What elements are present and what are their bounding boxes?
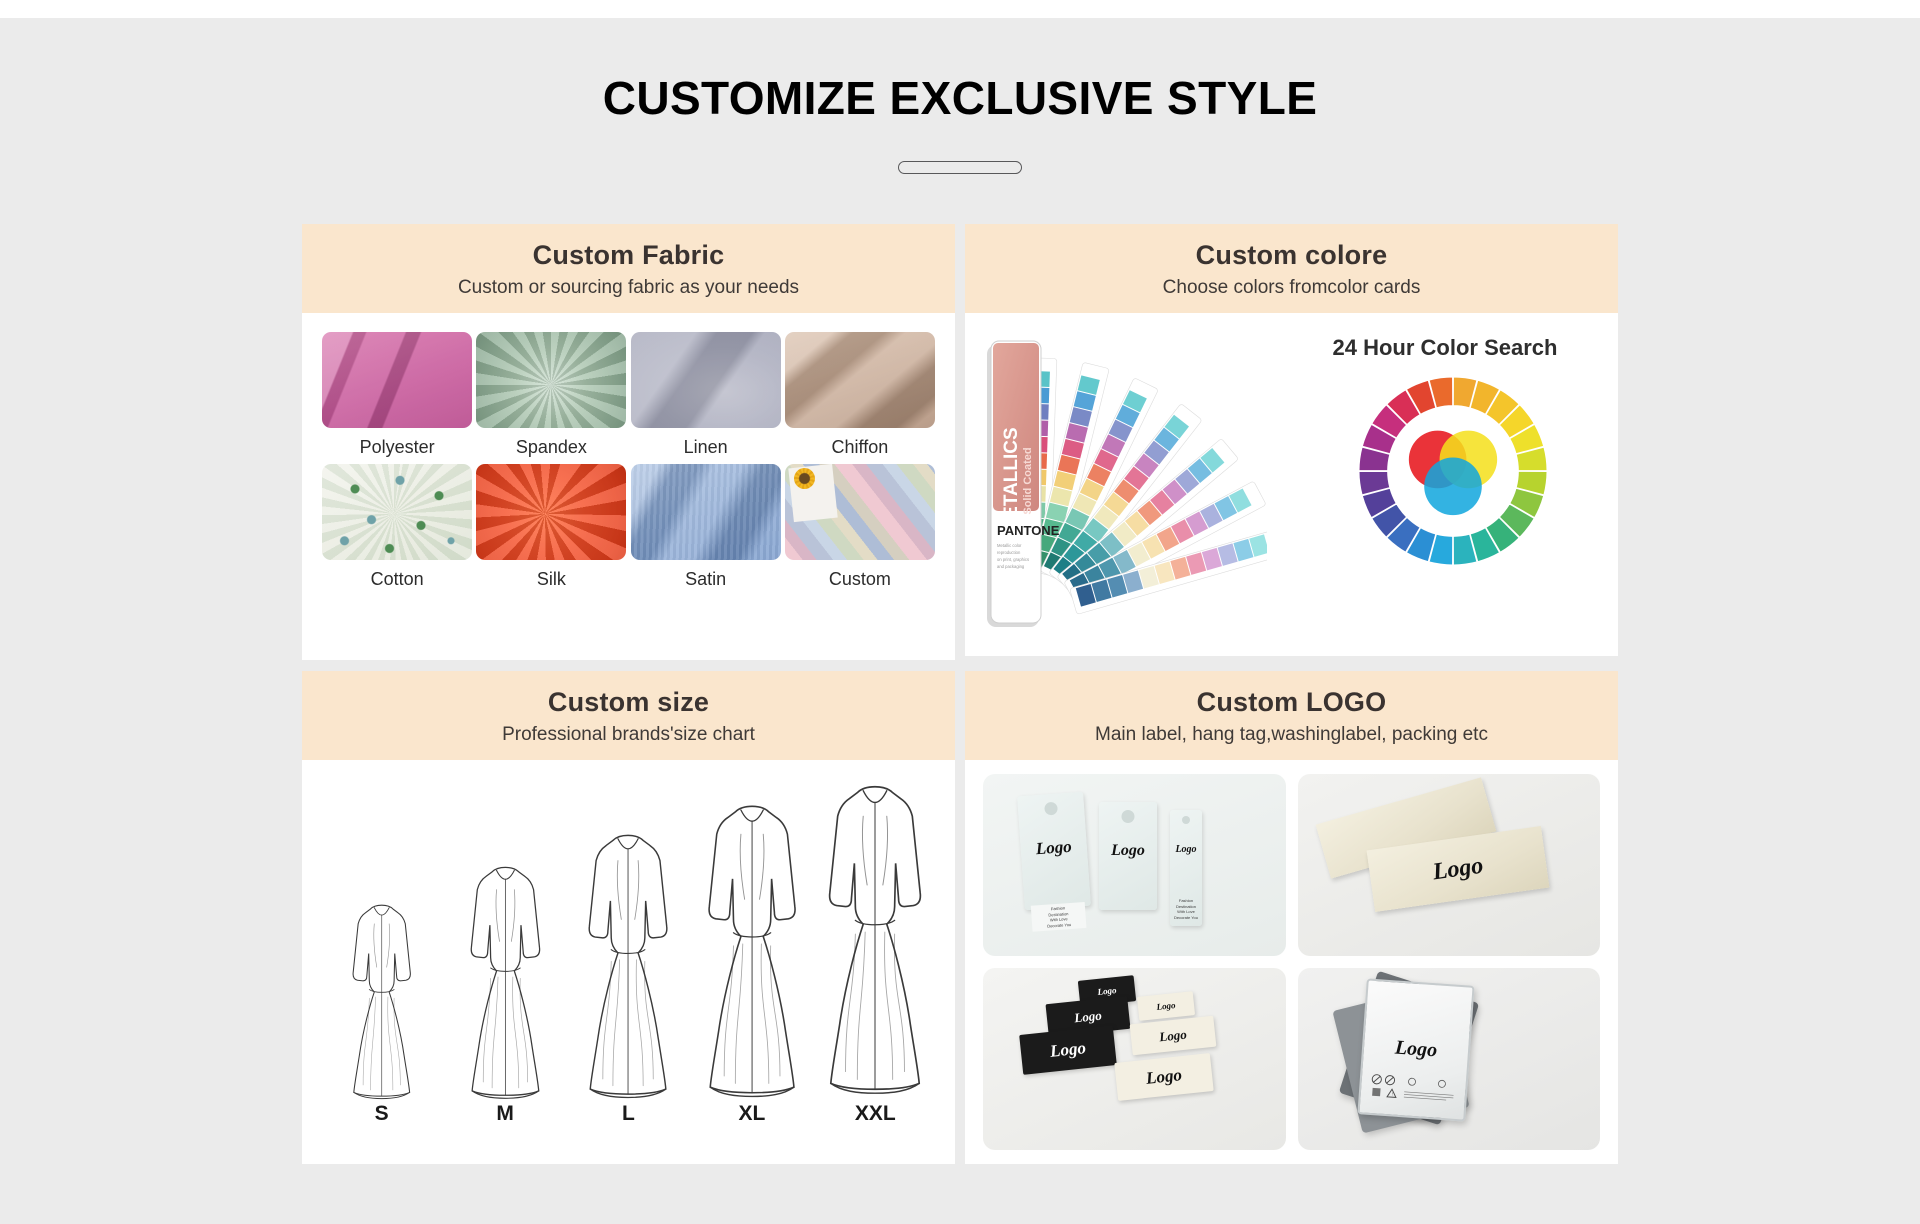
svg-text:!: ! <box>1391 1091 1393 1096</box>
logo-cell-hang-tag[interactable]: Logo FashionDestinationWith LoveDecorate… <box>983 774 1286 956</box>
main-label-cream-small: Logo <box>1137 991 1195 1021</box>
fabric-panel-header: Custom Fabric Custom or sourcing fabric … <box>302 224 955 313</box>
pantone-metallics-text: METALLICS <box>1001 427 1022 534</box>
page-canvas: CUSTOMIZE EXCLUSIVE STYLE Custom Fabric … <box>0 18 1920 1224</box>
size-panel-header: Custom size Professional brands'size cha… <box>302 671 955 760</box>
dress-figure <box>820 774 930 1104</box>
size-panel-title: Custom size <box>302 687 955 718</box>
size-label-l: L <box>573 1102 683 1126</box>
swatch-label: Custom <box>783 569 937 590</box>
tag-logo-text: Logo <box>1099 842 1157 860</box>
fabric-swatch-spandex[interactable]: Spandex <box>474 332 628 458</box>
page-root: CUSTOMIZE EXCLUSIVE STYLE Custom Fabric … <box>0 0 1920 1224</box>
svg-text:on print, graphics: on print, graphics <box>997 557 1029 562</box>
woven-logo-text: Logo <box>1431 852 1485 886</box>
color-panel-body: METALLICS Solid Coated PANTONE Metallic … <box>965 313 1618 656</box>
fabric-swatch-satin[interactable]: Satin <box>629 464 783 590</box>
tag-fine-print: FashionDestinationWith LoveDecorate You <box>1172 898 1200 920</box>
svg-text:reproduction: reproduction <box>997 550 1021 555</box>
color-search-title: 24 Hour Color Search <box>1295 335 1595 361</box>
fabric-swatch-silk[interactable]: Silk <box>474 464 628 590</box>
dress-outline <box>820 774 930 1104</box>
panel-custom-fabric[interactable]: Custom Fabric Custom or sourcing fabric … <box>302 224 955 660</box>
logo-cell-woven-label[interactable]: Logo <box>1298 774 1601 956</box>
label-logo-text: Logo <box>1074 1007 1103 1026</box>
label-logo-text: Logo <box>1156 1000 1176 1012</box>
tag-logo-text: Logo <box>1170 844 1202 855</box>
tag-hole-icon <box>1182 816 1190 824</box>
panel-custom-color[interactable]: Custom colore Choose colors fromcolor ca… <box>965 224 1618 656</box>
pantone-fan-deck-image: METALLICS Solid Coated PANTONE Metallic … <box>977 331 1267 641</box>
main-label-black-large: Logo <box>1019 1025 1117 1075</box>
size-label-m: M <box>450 1102 560 1126</box>
dress-figure <box>573 827 683 1104</box>
pantone-brand-text: PANTONE <box>997 523 1060 538</box>
color-wheel-image <box>1357 375 1549 567</box>
tag-logo-text: Logo <box>1020 836 1087 861</box>
logo-panel-subtitle: Main label, hang tag,washinglabel, packi… <box>965 724 1618 746</box>
panel-custom-logo[interactable]: Custom LOGO Main label, hang tag,washing… <box>965 671 1618 1164</box>
fabric-swatch-polyester[interactable]: Polyester <box>320 332 474 458</box>
fabric-swatch-cotton[interactable]: Cotton <box>320 464 474 590</box>
swatch-label: Silk <box>474 569 628 590</box>
swatch-label: Cotton <box>320 569 474 590</box>
packing-bag-front: Logo ! <box>1357 978 1474 1121</box>
fabric-swatch-chiffon[interactable]: Chiffon <box>783 332 937 458</box>
packing-logo-text: Logo <box>1363 1034 1468 1064</box>
spandex-fabric-image <box>476 332 626 428</box>
dress-outline <box>581 827 675 1104</box>
feature-grid: Custom Fabric Custom or sourcing fabric … <box>302 224 1618 1164</box>
dress-figure <box>697 797 807 1104</box>
label-logo-text: Logo <box>1145 1065 1183 1089</box>
logo-panel-header: Custom LOGO Main label, hang tag,washing… <box>965 671 1618 760</box>
logo-panel-title: Custom LOGO <box>965 687 1618 718</box>
size-label-s: S <box>327 1102 437 1126</box>
title-divider <box>898 161 1022 174</box>
hang-tag-medium: Logo <box>1099 802 1157 910</box>
fabric-swatch-grid: Polyester Spandex Linen Chiffon <box>302 313 955 604</box>
swatch-label: Chiffon <box>783 437 937 458</box>
size-label-xxl: XXL <box>820 1102 930 1126</box>
fabric-panel-subtitle: Custom or sourcing fabric as your needs <box>302 277 955 299</box>
logo-cell-packing-bag[interactable]: Logo ! <box>1298 968 1601 1150</box>
main-label-cream-large: Logo <box>1114 1053 1213 1101</box>
logo-panel-body: Logo FashionDestinationWith LoveDecorate… <box>965 760 1618 1164</box>
swatch-label: Linen <box>629 437 783 458</box>
fabric-swatch-linen[interactable]: Linen <box>629 332 783 458</box>
size-label-row: S M L XL XXL <box>320 1102 937 1126</box>
packing-warning-icons: ! <box>1360 1070 1466 1107</box>
dress-figure <box>450 860 560 1104</box>
tag-hole-icon <box>1122 810 1135 823</box>
fabric-panel-title: Custom Fabric <box>302 240 955 271</box>
logo-sample-grid: Logo FashionDestinationWith LoveDecorate… <box>983 774 1600 1150</box>
logo-cell-main-label[interactable]: Logo Logo Logo Logo <box>983 968 1286 1150</box>
size-panel-body: S M L XL XXL <box>302 760 955 1164</box>
satin-fabric-image <box>631 464 781 560</box>
svg-text:and packaging: and packaging <box>997 564 1025 569</box>
page-title: CUSTOMIZE EXCLUSIVE STYLE <box>0 71 1920 125</box>
color-panel-subtitle: Choose colors fromcolor cards <box>965 277 1618 299</box>
color-panel-header: Custom colore Choose colors fromcolor ca… <box>965 224 1618 313</box>
label-logo-text: Logo <box>1159 1026 1188 1045</box>
dress-outline <box>464 860 547 1104</box>
cotton-fabric-image <box>322 464 472 560</box>
size-label-xl: XL <box>697 1102 807 1126</box>
linen-fabric-image <box>631 332 781 428</box>
size-chart-dress-row <box>320 764 937 1104</box>
swatch-label: Polyester <box>320 437 474 458</box>
pantone-solid-coated-text: Solid Coated <box>1022 447 1034 514</box>
label-logo-text: Logo <box>1097 985 1117 997</box>
dress-outline <box>700 797 804 1104</box>
panel-custom-size[interactable]: Custom size Professional brands'size cha… <box>302 671 955 1164</box>
hang-tag-small: Logo FashionDestinationWith LoveDecorate… <box>1170 810 1202 926</box>
swatch-label: Satin <box>629 569 783 590</box>
size-panel-subtitle: Professional brands'size chart <box>302 724 955 746</box>
main-label-cream-medium: Logo <box>1130 1016 1217 1056</box>
tag-fine-print: FashionDestinationWith LoveDecorate You <box>1031 902 1087 931</box>
fabric-panel-body: Polyester Spandex Linen Chiffon <box>302 313 955 604</box>
hang-tag-large: Logo FashionDestinationWith LoveDecorate… <box>1017 792 1091 910</box>
fabric-swatch-custom[interactable]: Custom <box>783 464 937 590</box>
swatch-label: Spandex <box>474 437 628 458</box>
color-panel-title: Custom colore <box>965 240 1618 271</box>
dress-figure <box>327 899 437 1104</box>
dress-outline <box>347 899 416 1104</box>
tag-hole-icon <box>1044 802 1058 816</box>
polyester-fabric-image <box>322 332 472 428</box>
silk-fabric-image <box>476 464 626 560</box>
custom-fabric-image <box>785 464 935 560</box>
label-logo-text: Logo <box>1049 1038 1087 1062</box>
svg-text:Metallic color: Metallic color <box>997 543 1022 548</box>
chiffon-fabric-image <box>785 332 935 428</box>
